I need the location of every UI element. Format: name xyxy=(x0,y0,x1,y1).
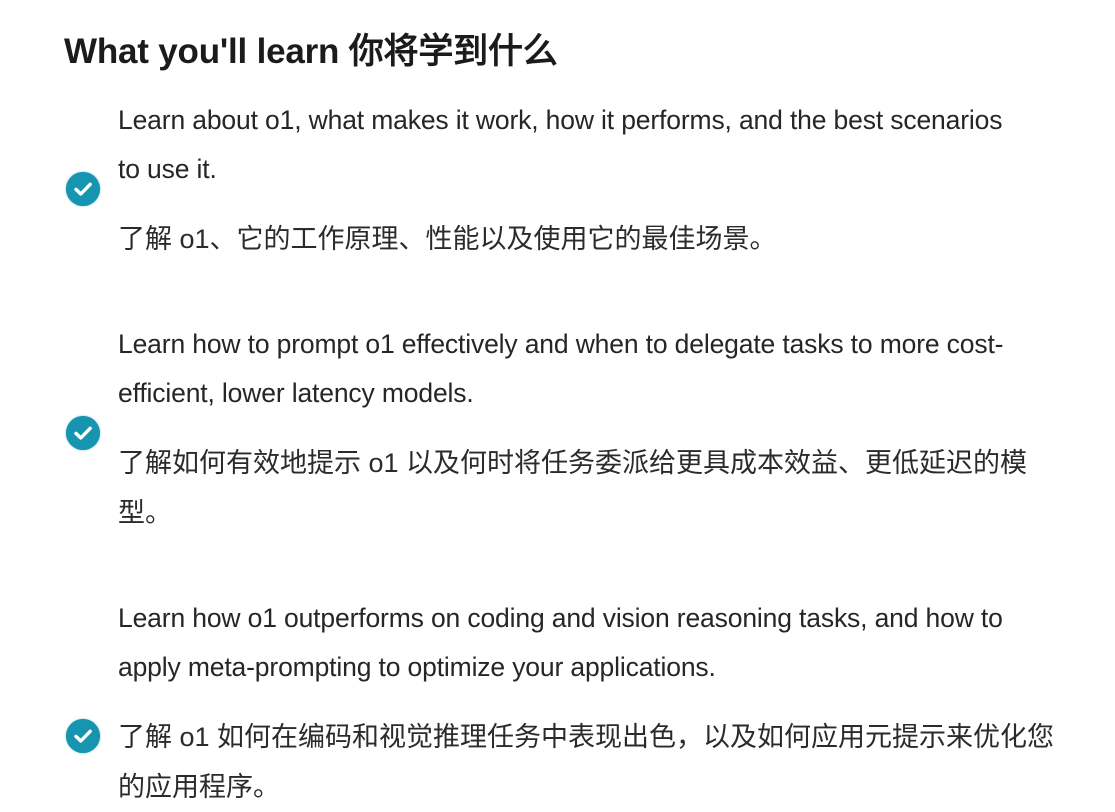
check-circle-icon xyxy=(66,719,100,753)
list-item-text-en: Learn how to prompt o1 effectively and w… xyxy=(118,320,1023,418)
page-title: What you'll learn 你将学到什么 xyxy=(64,27,558,77)
check-circle-icon xyxy=(66,172,100,206)
list-item-text-zh: 了解如何有效地提示 o1 以及何时将任务委派给更具成本效益、更低延迟的模型。 xyxy=(118,438,1063,538)
list-item-text-zh: 了解 o1、它的工作原理、性能以及使用它的最佳场景。 xyxy=(118,214,1063,264)
list-item: Learn about o1, what makes it work, how … xyxy=(0,96,1115,264)
list-item-text-zh: 了解 o1 如何在编码和视觉推理任务中表现出色，以及如何应用元提示来优化您的应用… xyxy=(118,712,1063,812)
what-you-will-learn-list: Learn about o1, what makes it work, how … xyxy=(0,96,1115,812)
list-item: Learn how to prompt o1 effectively and w… xyxy=(0,320,1115,538)
list-item-text-en: Learn how o1 outperforms on coding and v… xyxy=(118,594,1023,692)
learn-page: What you'll learn 你将学到什么 Learn about o1,… xyxy=(0,0,1115,811)
list-item: Learn how o1 outperforms on coding and v… xyxy=(0,594,1115,812)
check-circle-icon xyxy=(66,416,100,450)
list-item-text-en: Learn about o1, what makes it work, how … xyxy=(118,96,1023,194)
